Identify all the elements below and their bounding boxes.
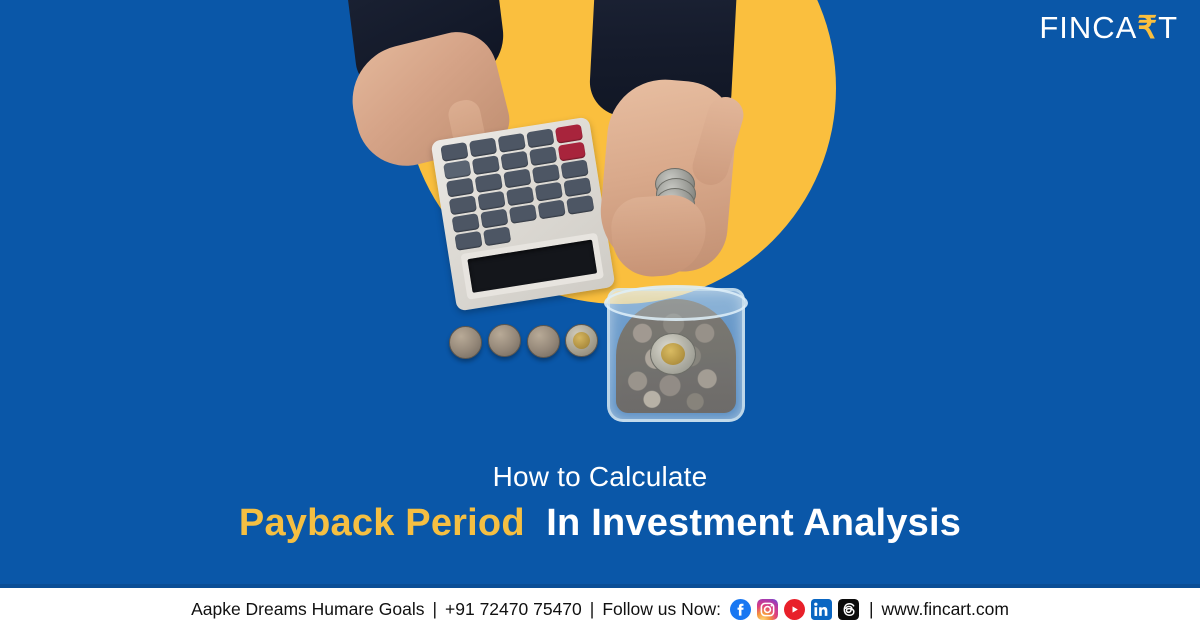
social-icon-group (730, 599, 859, 620)
calculator-key (480, 209, 509, 229)
calculator-key (534, 182, 563, 202)
calculator-keypad (440, 124, 597, 251)
calculator-key (560, 160, 589, 180)
hero-section: FINCA ₹ T How to Calculate Payback Perio… (0, 0, 1200, 588)
footer-follow-label: Follow us Now: (602, 599, 721, 620)
headline-kicker: How to Calculate (0, 460, 1200, 494)
calculator-key (452, 213, 481, 233)
hero-bottom-rule (0, 584, 1200, 588)
calculator-key (469, 137, 498, 157)
footer-website[interactable]: www.fincart.com (882, 599, 1009, 620)
footer-content: Aapke Dreams Humare Goals | +91 72470 75… (191, 599, 1009, 620)
footer-phone[interactable]: +91 72470 75470 (445, 599, 582, 620)
loose-coin (449, 326, 482, 359)
calculator-key (475, 173, 504, 193)
jar-coin-bimetallic (650, 333, 696, 375)
footer-bar: Aapke Dreams Humare Goals | +91 72470 75… (0, 589, 1200, 630)
facebook-icon[interactable] (730, 599, 751, 620)
calculator-key-c (557, 142, 586, 162)
calculator-key (509, 204, 538, 224)
youtube-icon[interactable] (784, 599, 805, 620)
calculator-key (446, 178, 475, 198)
calculator-key (503, 169, 532, 189)
headline-block: How to Calculate Payback Period In Inves… (0, 460, 1200, 546)
loose-coin-row (449, 322, 599, 362)
footer-separator-2: | (589, 599, 596, 620)
calculator-key (563, 177, 592, 197)
calculator-key (529, 146, 558, 166)
calculator-key (440, 142, 469, 162)
poster-canvas: FINCA ₹ T How to Calculate Payback Perio… (0, 0, 1200, 630)
footer-tagline: Aapke Dreams Humare Goals (191, 599, 424, 620)
calculator-key (477, 191, 506, 211)
calculator (431, 117, 616, 312)
calculator-key (449, 196, 478, 216)
calculator-key (443, 160, 472, 180)
coin-jar-rim (604, 285, 748, 321)
calculator-key (526, 128, 555, 148)
linkedin-icon[interactable] (811, 599, 832, 620)
calculator-key (566, 195, 595, 215)
footer-separator-1: | (431, 599, 438, 620)
footer-separator-3: | (868, 599, 875, 620)
loose-coin (488, 324, 521, 357)
headline-title: Payback Period In Investment Analysis (0, 500, 1200, 546)
logo-text-suffix: T (1158, 10, 1178, 46)
loose-coin (527, 325, 560, 358)
instagram-icon[interactable] (757, 599, 778, 620)
calculator-key (532, 164, 561, 184)
calculator-key (537, 200, 566, 220)
calculator-key (500, 151, 529, 171)
rupee-icon: ₹ (1137, 10, 1158, 46)
logo-text-prefix: FINCA (1039, 10, 1137, 46)
threads-icon[interactable] (838, 599, 859, 620)
headline-highlight: Payback Period (239, 502, 525, 544)
calculator-key (497, 133, 526, 153)
loose-coin-bimetallic (565, 324, 598, 357)
calculator-key-ac (555, 124, 584, 144)
headline-rest: In Investment Analysis (546, 502, 961, 544)
calculator-key (472, 155, 501, 175)
calculator-key (506, 186, 535, 206)
fincart-logo[interactable]: FINCA ₹ T (1039, 10, 1178, 46)
